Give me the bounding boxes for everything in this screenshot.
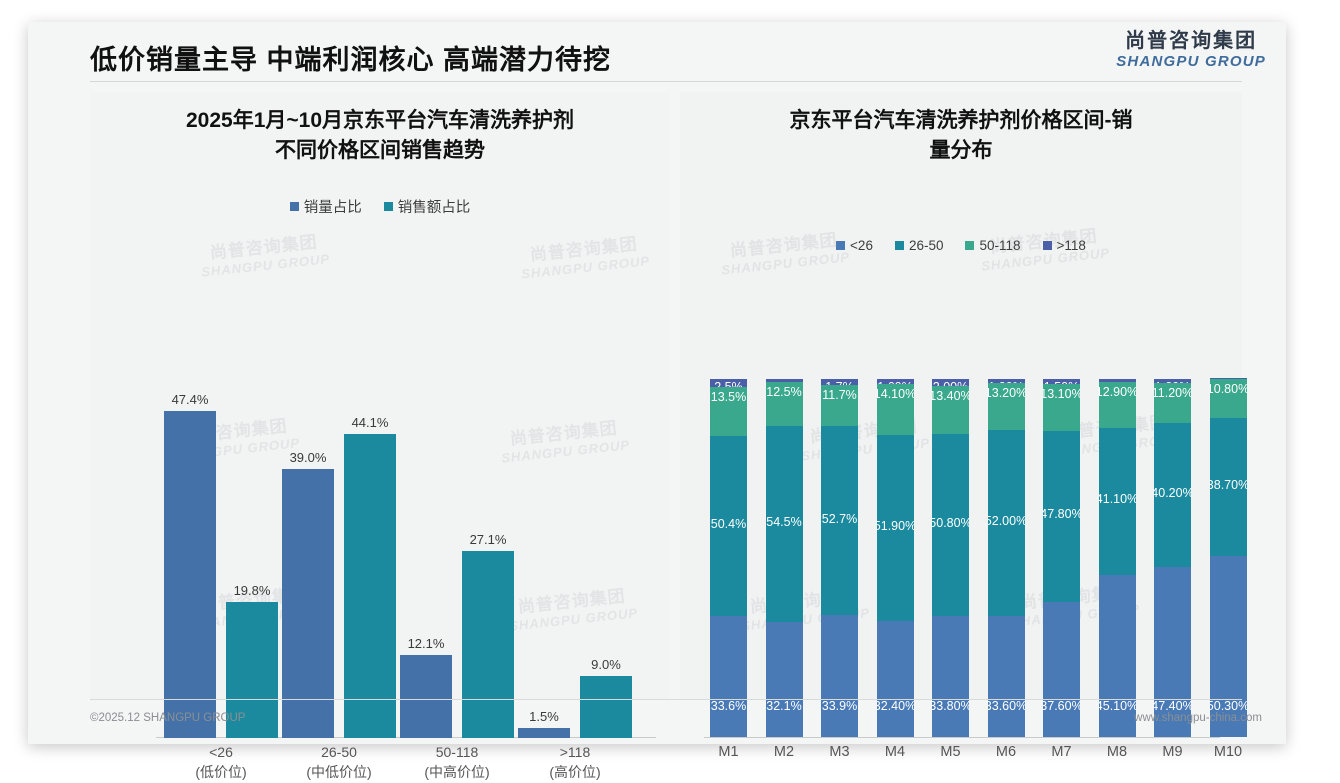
legend-item-26-50[interactable]: 26-50 [895,238,944,253]
logo-chinese-text: 尚普咨询集团 [1116,30,1266,53]
brand-logo: 尚普咨询集团 SHANGPU GROUP [1116,30,1266,70]
legend-item-50-118[interactable]: 50-118 [965,238,1020,253]
watermark: 尚普咨询集团 SHANGPU GROUP [718,229,850,278]
stack-value-label: 40.20% [1154,486,1191,500]
x-axis-category-26-50: 26-50(中低价位) [280,742,398,783]
left-chart-plot-area: 47.4%19.8%<26(低价位)39.0%44.1%26-50(中低价位)1… [156,360,656,738]
stack-value-label: 11.20% [1154,386,1191,400]
stack-segment-50-118-M7: 13.10% [1043,384,1080,431]
stack-segment-26-50-M9: 40.20% [1154,423,1191,567]
bar-销量占比-26-50 [282,469,334,738]
stack-value-label: 50.80% [932,516,969,530]
x-axis-month-M4: M4 [877,744,914,760]
stack-segment-50-118-M8: 12.90% [1099,382,1136,428]
stacked-bar-M10: 0.30%10.80%38.70%50.30% [1210,378,1247,736]
stack-segment-<26-M10: 50.30% [1210,556,1247,736]
stack-value-label: 33.60% [988,699,1025,713]
footer-divider [90,699,1242,700]
footer-website[interactable]: www.shangpu-china.com [1134,712,1262,724]
stack-value-label: 51.90% [877,519,914,533]
x-axis-category-50-118: 50-118(中高价位) [398,742,516,783]
stack-segment-26-50-M8: 41.10% [1099,428,1136,575]
legend-label: >118 [1057,238,1086,253]
bar-销量占比->118 [518,728,570,738]
stack-value-label: 12.90% [1099,385,1136,399]
stack-segment-26-50-M7: 47.80% [1043,431,1080,602]
stack-value-label: 50.4% [711,517,746,531]
stacked-bar-M7: 1.50%13.10%47.80%37.60% [1043,379,1080,737]
legend-label: <26 [850,238,873,253]
x-axis-month-M8: M8 [1099,744,1136,760]
legend-item-<26[interactable]: <26 [836,238,873,253]
stacked-bar-M6: 1.20%13.20%52.00%33.60% [988,379,1025,737]
stack-value-label: 11.7% [822,388,857,402]
stack-segment-26-50-M4: 51.90% [877,435,914,621]
stack-value-label: 33.9% [822,699,857,713]
bar-value-label: 9.0% [569,657,643,672]
stacked-bar-M8: 0.90%12.90%41.10%45.10% [1099,379,1136,737]
bar-value-label: 1.5% [507,709,581,724]
stack-segment-<26-M6: 33.60% [988,616,1025,736]
legend-label: 26-50 [909,238,944,253]
stack-segment-26-50-M5: 50.80% [932,434,969,616]
right-chart-panel: 尚普咨询集团 SHANGPU GROUP 尚普咨询集团 SHANGPU GROU… [680,92,1242,700]
left-chart-title-line2: 不同价格区间销售趋势 [90,136,670,166]
stack-value-label: 13.20% [988,386,1025,400]
stack-value-label: 37.60% [1043,699,1080,713]
x-axis-month-M5: M5 [932,744,969,760]
stack-value-label: 14.10% [877,387,914,401]
stacked-bar-M5: 2.00%13.40%50.80%33.80% [932,379,969,737]
stacked-bar-M4: 1.60%14.10%51.90%32.40% [877,379,914,737]
x-axis-month-M7: M7 [1043,744,1080,760]
stack-segment-<26-M4: 32.40% [877,621,914,737]
stack-segment-<26-M3: 33.9% [821,615,858,736]
stack-segment-26-50-M3: 52.7% [821,426,858,615]
legend-swatch-icon [290,202,299,211]
legend-label: 50-118 [979,238,1020,253]
stack-segment-<26-M7: 37.60% [1043,602,1080,737]
bar-销量占比-<26 [164,411,216,738]
stack-segment-50-118-M4: 14.10% [877,384,914,434]
x-axis-month-M9: M9 [1154,744,1191,760]
x-axis-category-<26: <26(低价位) [162,742,280,783]
stacked-bar-M2: 0.9%12.5%54.5%32.1% [766,379,803,737]
x-axis-month-M2: M2 [766,744,803,760]
bar-value-label: 39.0% [271,450,345,465]
right-chart-title-line2: 量分布 [680,136,1242,166]
x-axis-month-M6: M6 [988,744,1025,760]
left-chart-title-line1: 2025年1月~10月京东平台汽车清洗养护剂 [90,106,670,136]
legend-swatch-icon [836,241,845,250]
stack-value-label: 52.7% [822,512,857,526]
stack-value-label: 52.00% [988,514,1025,528]
header-divider [90,81,1242,82]
legend-swatch-icon [895,241,904,250]
stack-value-label: 33.80% [932,699,969,713]
legend-swatch-icon [1043,241,1052,250]
stack-segment-50-118-M6: 13.20% [988,383,1025,430]
stack-value-label: 47.80% [1043,507,1080,521]
slide-header: 低价销量主导 中端利润核心 高端潜力待挖 尚普咨询集团 SHANGPU GROU… [28,22,1286,84]
stack-segment->118-M5: 2.00% [932,379,969,386]
x-axis-category-main: 50-118 [398,742,516,762]
stack-segment-<26-M5: 33.80% [932,616,969,737]
stack-value-label: 45.10% [1099,699,1136,713]
x-axis-category->118: >118(高价位) [516,742,634,783]
bar-value-label: 44.1% [333,415,407,430]
bar-销售额占比->118 [580,676,632,738]
stack-value-label: 54.5% [766,515,801,529]
stacked-bar-M1: 2.5%13.5%50.4%33.6% [710,379,747,737]
watermark: 尚普咨询集团 SHANGPU GROUP [198,231,330,280]
legend-item->118[interactable]: >118 [1043,238,1086,253]
stack-segment-50-118-M3: 11.7% [821,385,858,427]
stack-value-label: 10.80% [1210,382,1247,396]
bar-value-label: 12.1% [389,636,463,651]
x-axis-line [704,737,1220,739]
stack-value-label: 13.40% [932,389,969,403]
stack-segment-<26-M8: 45.10% [1099,575,1136,736]
x-axis-category-main: 26-50 [280,742,398,762]
stack-value-label: 33.6% [711,699,746,713]
bar-销售额占比-26-50 [344,434,396,738]
stack-value-label: 50.30% [1210,699,1247,713]
stack-value-label: 41.10% [1099,492,1136,506]
stack-segment-50-118-M10: 10.80% [1210,379,1247,418]
stack-segment-26-50-M2: 54.5% [766,426,803,621]
legend-item-volume[interactable]: 销量占比 [290,196,362,217]
bar-value-label: 19.8% [215,583,289,598]
stack-segment-50-118-M5: 13.40% [932,386,969,434]
legend-swatch-icon [965,241,974,250]
legend-label: 销量占比 [304,196,362,217]
right-chart-title-line1: 京东平台汽车清洗养护剂价格区间-销 [680,106,1242,136]
slide-canvas: 低价销量主导 中端利润核心 高端潜力待挖 尚普咨询集团 SHANGPU GROU… [28,22,1286,744]
x-axis-month-M3: M3 [821,744,858,760]
page-title: 低价销量主导 中端利润核心 高端潜力待挖 [90,38,611,77]
stack-segment-<26-M1: 33.6% [710,616,747,736]
left-chart-legend: 销量占比 销售额占比 [90,196,670,217]
footer-copyright: ©2025.12 SHANGPU GROUP [90,712,245,724]
stack-segment-26-50-M6: 52.00% [988,430,1025,616]
x-axis-month-M10: M10 [1210,744,1247,760]
logo-english-text: SHANGPU GROUP [1116,53,1266,70]
stack-value-label: 32.40% [877,699,914,713]
stack-segment-26-50-M1: 50.4% [710,436,747,616]
right-chart-legend: <2626-5050-118>118 [680,238,1242,253]
legend-item-amount[interactable]: 销售额占比 [384,196,471,217]
watermark: 尚普咨询集团 SHANGPU GROUP [518,233,650,282]
stack-value-label: 13.10% [1043,387,1080,401]
stack-segment-50-118-M1: 13.5% [710,387,747,435]
x-axis-category-main: >118 [516,742,634,762]
stack-value-label: 38.70% [1210,478,1247,492]
stack-value-label: 2.5% [714,380,743,388]
stack-value-label: 47.40% [1154,699,1191,713]
right-chart-title: 京东平台汽车清洗养护剂价格区间-销 量分布 [680,106,1242,167]
x-axis-category-main: <26 [162,742,280,762]
bar-value-label: 47.4% [153,392,227,407]
legend-swatch-icon [384,202,393,211]
bar-value-label: 27.1% [451,532,525,547]
stacked-bar-M9: 1.20%11.20%40.20%47.40% [1154,379,1191,737]
stacked-bar-M3: 1.7%11.7%52.7%33.9% [821,379,858,737]
left-chart-title: 2025年1月~10月京东平台汽车清洗养护剂 不同价格区间销售趋势 [90,106,670,167]
right-chart-plot-area: 2.5%13.5%50.4%33.6%M10.9%12.5%54.5%32.1%… [704,380,1220,738]
stack-value-label: 13.5% [711,390,746,404]
x-axis-month-M1: M1 [710,744,747,760]
legend-label: 销售额占比 [398,196,471,217]
stack-segment-50-118-M9: 11.20% [1154,383,1191,423]
stack-segment->118-M1: 2.5% [710,379,747,388]
stack-value-label: 32.1% [766,699,801,713]
stack-segment-<26-M2: 32.1% [766,622,803,737]
bar-销量占比-50-118 [400,655,452,738]
left-chart-panel: 尚普咨询集团 SHANGPU GROUP 尚普咨询集团 SHANGPU GROU… [90,92,670,700]
stack-segment-26-50-M10: 38.70% [1210,418,1247,557]
stack-segment-50-118-M2: 12.5% [766,382,803,427]
stack-value-label: 12.5% [766,385,801,399]
